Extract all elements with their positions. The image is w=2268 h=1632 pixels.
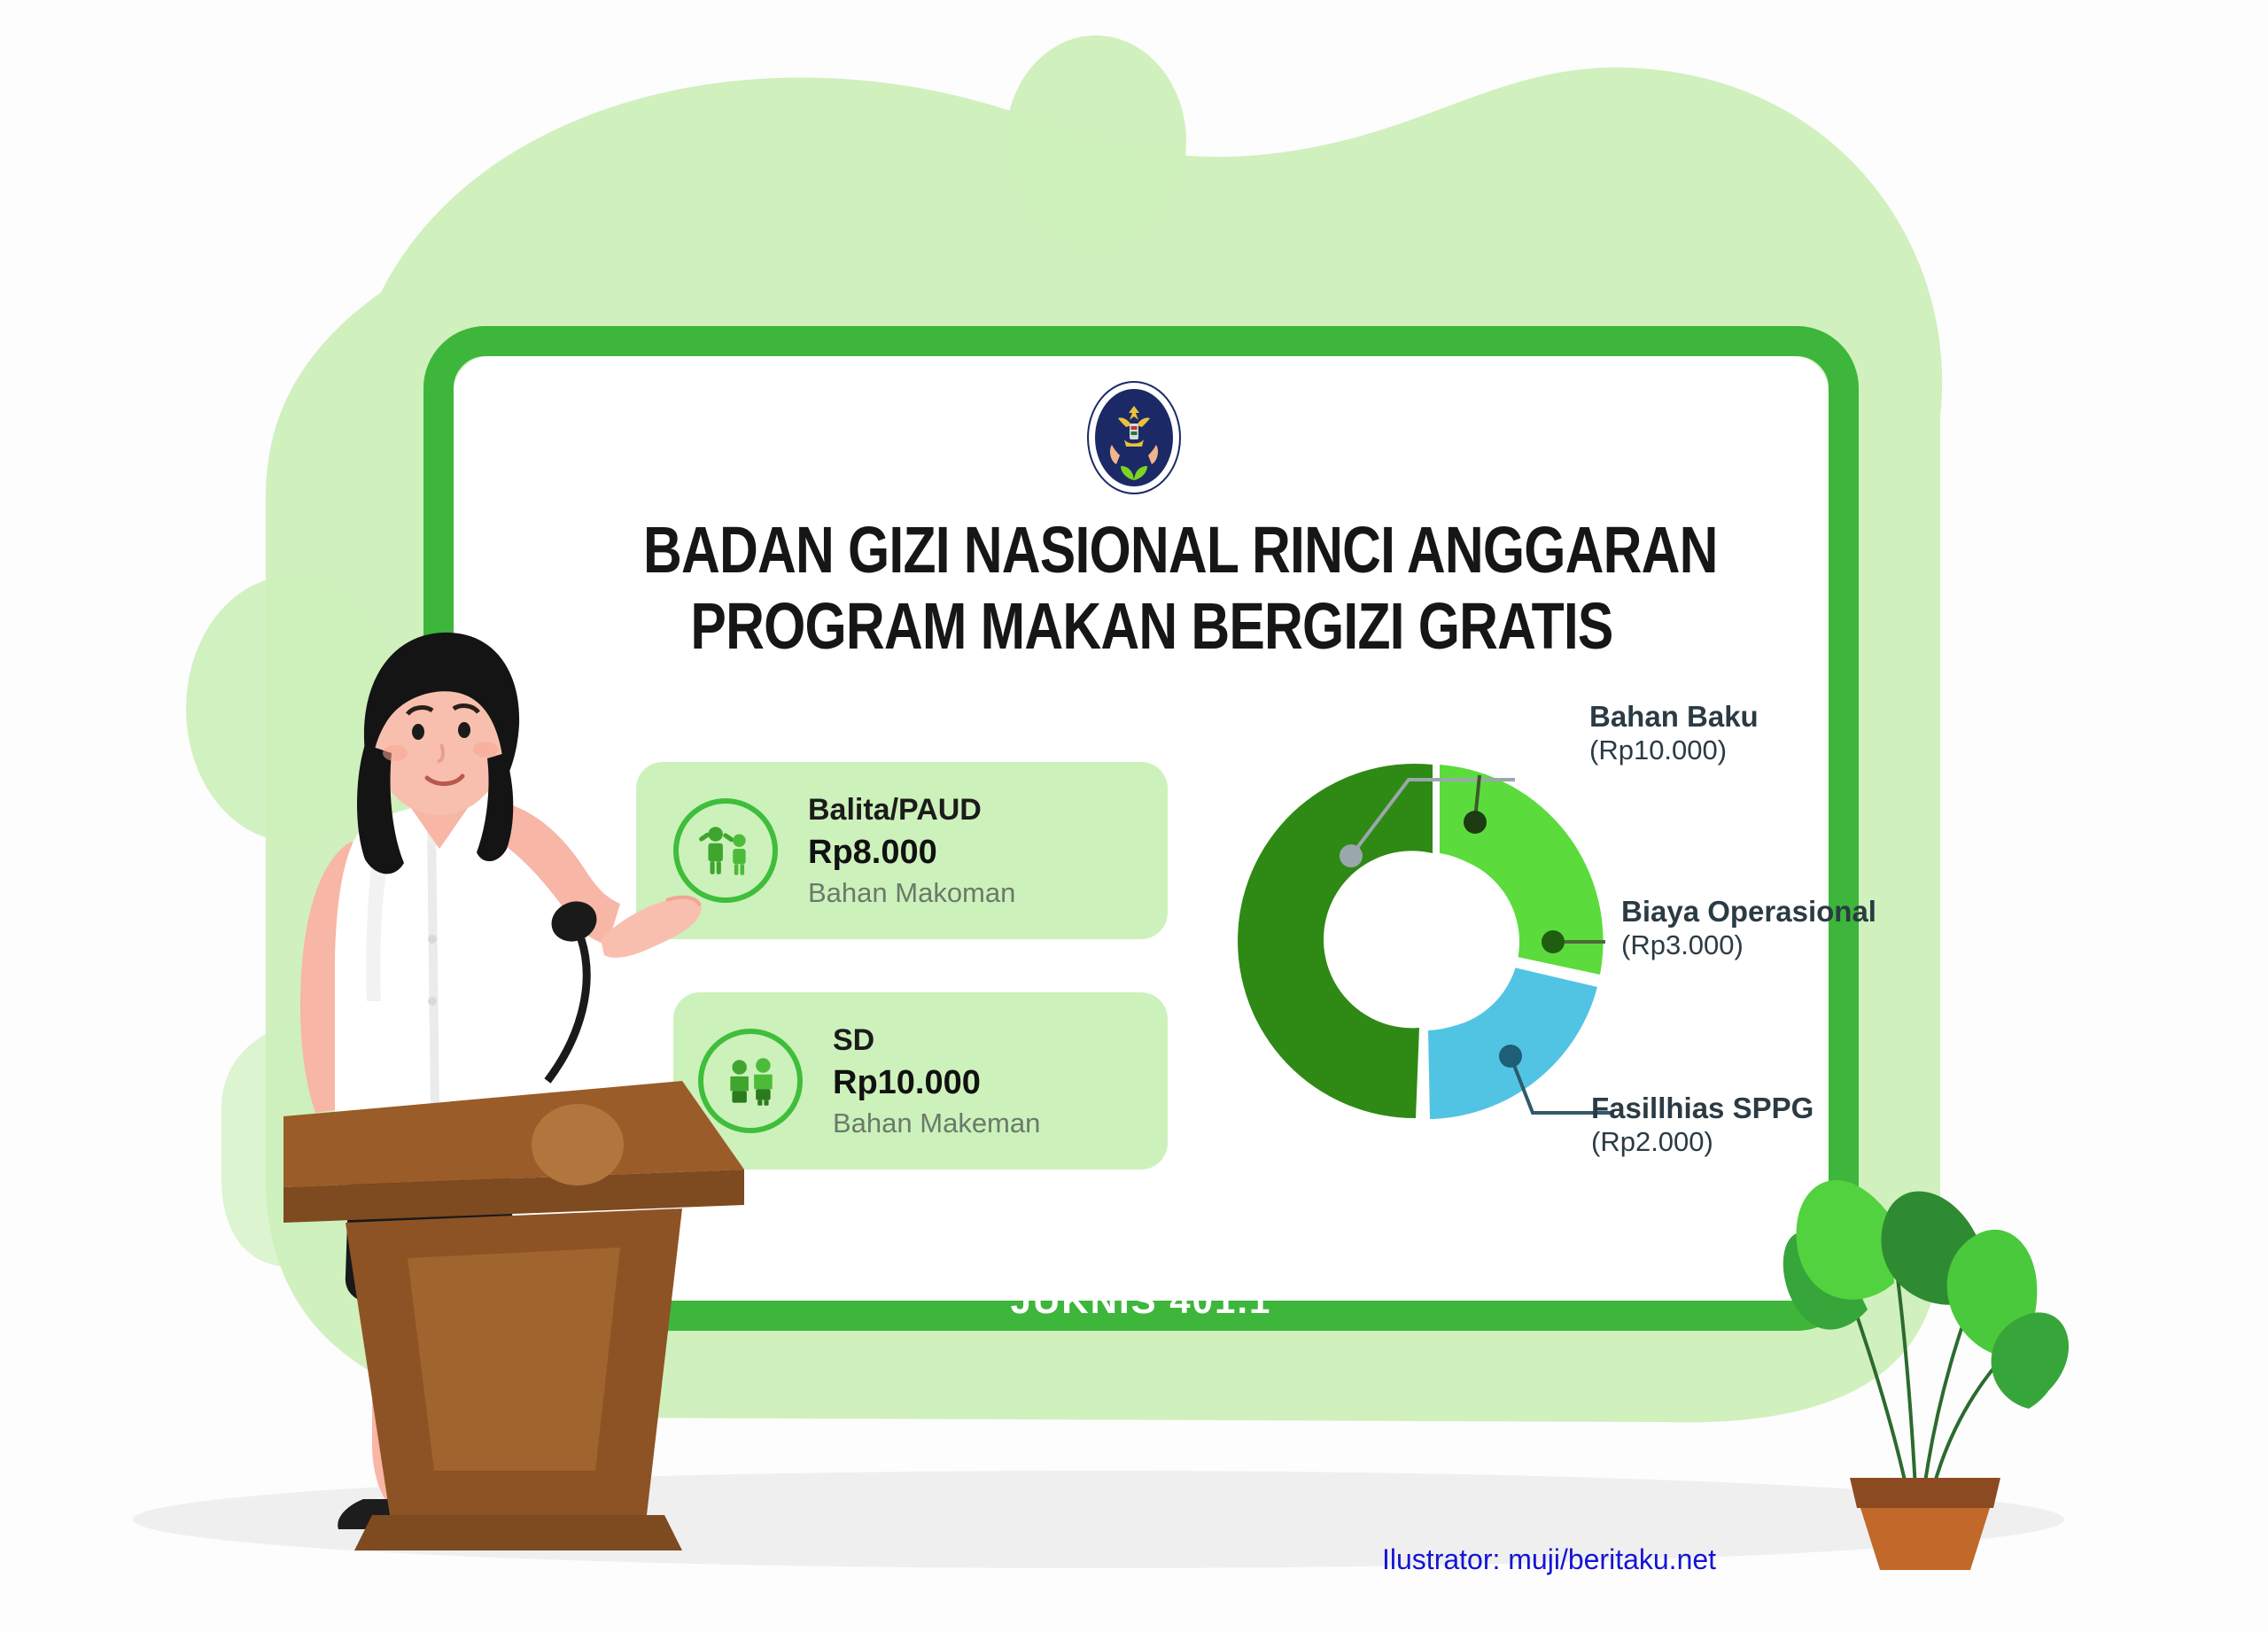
floating-blob xyxy=(1006,35,1186,248)
leader-dot-baku-inner xyxy=(1464,811,1487,834)
juknis-label: JUKNIS 401.1 xyxy=(1011,1279,1272,1322)
chart-label-name: Biaya Operasional xyxy=(1621,895,1876,929)
microphone xyxy=(546,895,603,1081)
infographic-canvas: JUKNIS 401.1 BADAN GIZI NASIONAL REPUBLI… xyxy=(0,0,2268,1632)
chart-label-biaya-operasional: Biaya Operasional (Rp3.000) xyxy=(1621,895,1876,962)
chart-label-value: (Rp3.000) xyxy=(1621,929,1876,962)
card-category: Balita/PAUD xyxy=(808,789,1015,830)
card-text-block: SD Rp10.000 Bahan Makeman xyxy=(833,1020,1040,1142)
chart-label-name: Bahan Baku xyxy=(1589,700,1759,734)
card-subtitle: Bahan Makoman xyxy=(808,874,1015,912)
title-line-1: BADAN GIZI NASIONAL RINCI ANGGARAN xyxy=(643,512,1660,588)
podium-emblem xyxy=(532,1104,624,1185)
card-amount: Rp8.000 xyxy=(808,830,1015,874)
illustrator-credit: Ilustrator: muji/beritaku.net xyxy=(1382,1543,1716,1576)
card-text-block: Balita/PAUD Rp8.000 Bahan Makoman xyxy=(808,789,1015,912)
left-eye xyxy=(412,724,424,740)
podium xyxy=(283,1081,744,1550)
potted-plant-illustration xyxy=(1736,1099,2109,1577)
leader-line-bahan-baku xyxy=(1351,780,1515,856)
chart-label-bahan-baku: Bahan Baku (Rp10.000) xyxy=(1589,700,1759,767)
plant-leaves xyxy=(1783,1180,2069,1409)
leader-dot-fasilitas xyxy=(1499,1045,1522,1068)
right-blush xyxy=(473,742,498,758)
logo-left-dot xyxy=(1098,436,1101,439)
flower-pot xyxy=(1850,1478,2000,1570)
button-2 xyxy=(428,997,437,1006)
chart-label-value: (Rp10.000) xyxy=(1589,734,1759,767)
card-subtitle: Bahan Makeman xyxy=(833,1105,1040,1142)
logo-right-dot xyxy=(1167,436,1170,439)
bgn-logo: BADAN GIZI NASIONAL REPUBLIK INDONESIA xyxy=(1087,381,1181,494)
card-category: SD xyxy=(833,1020,1040,1061)
card-amount: Rp10.000 xyxy=(833,1061,1040,1105)
podium-base xyxy=(354,1515,682,1550)
podium-panel xyxy=(408,1247,620,1471)
button-1 xyxy=(428,935,437,944)
mic-stand xyxy=(548,939,586,1081)
woman-speaker-illustration xyxy=(266,620,833,1559)
left-blush xyxy=(383,745,408,761)
leader-dot-bahan-baku xyxy=(1340,844,1363,867)
right-eye xyxy=(458,722,470,738)
leader-dot-biaya xyxy=(1542,930,1565,953)
